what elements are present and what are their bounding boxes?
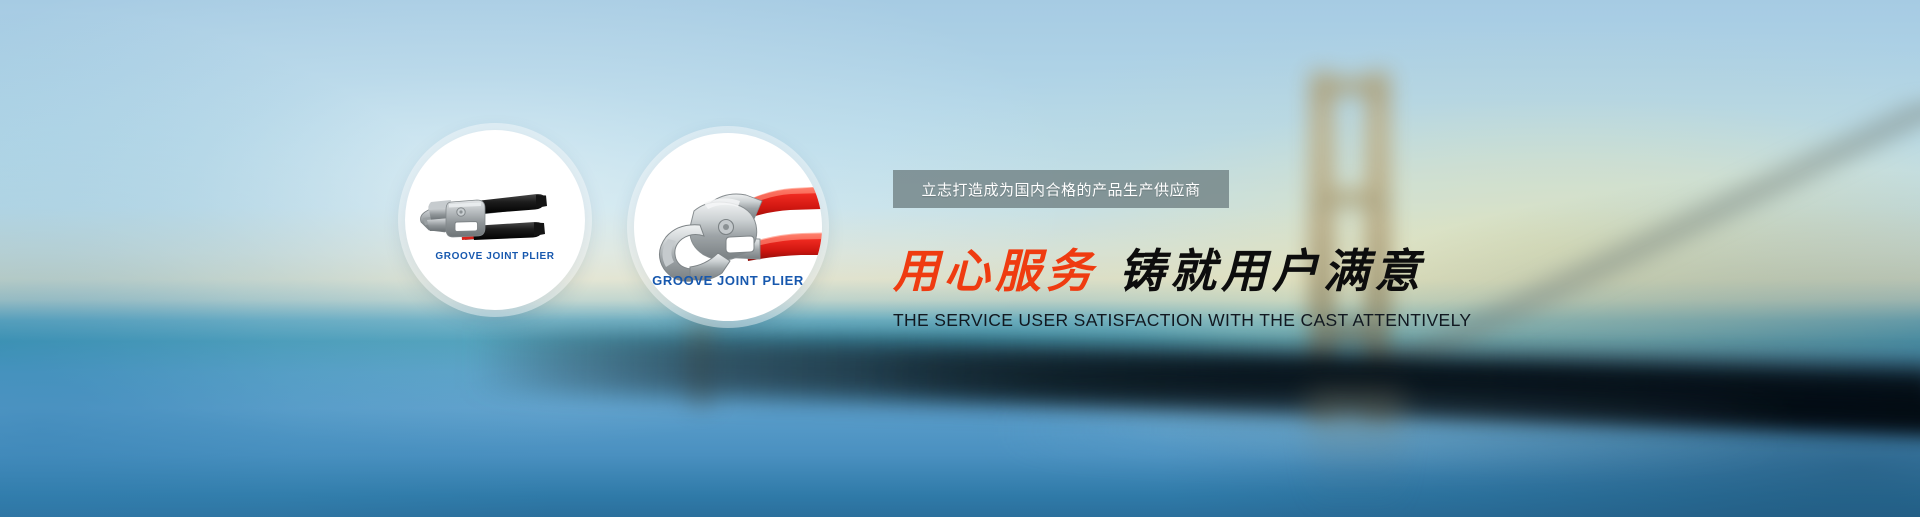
groove-joint-plier-red-handle-icon [634,133,822,321]
product-circle-1[interactable]: GROOVE JOINT PLIER [405,130,585,310]
headline-red-text: 用心服务 [893,248,1097,294]
headline: 用心服务 铸就用户满意 [893,248,1425,294]
headline-black-text: 铸就用户满意 [1119,248,1425,294]
bridge-cable [1345,100,1920,390]
tagline-bar-text: 立志打造成为国内合格的产品生产供应商 [921,179,1200,200]
product-label: GROOVE JOINT PLIER [405,251,585,262]
tagline-bar: 立志打造成为国内合格的产品生产供应商 [893,170,1229,208]
product-label: GROOVE JOINT PLIER [634,273,822,288]
subline-text: THE SERVICE USER SATISFACTION WITH THE C… [893,310,1471,331]
tower-water-reflection [1308,392,1404,517]
groove-joint-plier-black-handle-icon [405,130,585,310]
hero-banner: GROOVE JOINT PLIER [0,0,1920,517]
product-circle-2[interactable]: GROOVE JOINT PLIER [634,133,822,321]
